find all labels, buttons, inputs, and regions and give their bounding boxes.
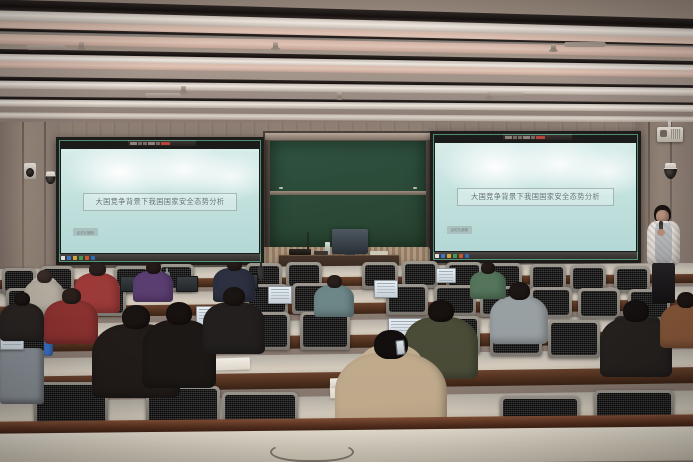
app-green-icon[interactable] xyxy=(79,256,83,260)
person-red-sweater-torso xyxy=(44,300,98,344)
presenter-legs xyxy=(652,263,675,303)
right-slide-title: 大国竞争背景下我国国家安全态势分析 xyxy=(458,192,613,202)
chair xyxy=(548,320,600,358)
folder-icon[interactable] xyxy=(73,256,77,260)
folder-icon[interactable] xyxy=(447,254,451,258)
laptop-screen-text xyxy=(439,271,453,272)
left-projection-screen[interactable]: 大国竞争背景下我国国家安全态势分析 幻灯片放映 xyxy=(56,137,264,265)
left-slide-title-box: 大国竞争背景下我国国家安全态势分析 xyxy=(83,193,237,211)
person-olive-phone-head xyxy=(428,300,454,322)
laptop xyxy=(176,276,196,290)
laptop xyxy=(436,268,454,281)
laptop-screen xyxy=(268,286,292,304)
right-slide-title-box: 大国竞争背景下我国国家安全态势分析 xyxy=(457,188,614,206)
podium-monitor xyxy=(332,229,368,254)
person-dark-right-1-head xyxy=(623,300,649,322)
left-screen-canvas: 大国竞争背景下我国国家安全态势分析 幻灯片放映 xyxy=(61,149,259,253)
laptop-screen xyxy=(374,280,398,298)
app-orange-icon[interactable] xyxy=(85,256,89,260)
sprinkler-head xyxy=(79,42,84,49)
person-dark-far-left xyxy=(0,292,44,344)
app-orange-icon[interactable] xyxy=(459,254,463,258)
person-red-sweater-head xyxy=(62,288,81,304)
app-green-icon[interactable] xyxy=(453,254,457,258)
laptop-screen xyxy=(176,276,198,292)
right-projection-screen[interactable]: 大国竞争背景下我国国家安全态势分析 幻灯片放映 xyxy=(430,131,641,263)
podium-control-panel[interactable] xyxy=(314,251,328,255)
left-slide-status-note: 幻灯片放映 xyxy=(73,228,98,236)
dome-camera-right xyxy=(664,163,677,178)
podium-mic-stand xyxy=(307,232,309,252)
person-red-plaid-head xyxy=(89,262,106,276)
laptop-screen-text xyxy=(377,283,395,284)
person-green-far-right-head xyxy=(481,262,495,274)
person-dark-mid-torso xyxy=(203,302,265,354)
person-grey-jacket-head xyxy=(509,282,530,300)
bottle-dark xyxy=(258,266,264,280)
app-blue-icon[interactable] xyxy=(91,256,95,260)
person-teal-back-torso xyxy=(314,285,354,317)
person-dark-mid xyxy=(203,287,265,358)
person-purple xyxy=(133,261,173,305)
smartphone xyxy=(395,340,406,356)
person-rust-right-torso xyxy=(660,304,693,348)
start-icon[interactable] xyxy=(435,254,439,258)
left-screen-taskbar[interactable] xyxy=(59,254,264,262)
chalkboard-divider xyxy=(270,191,426,195)
person-dark-far-left-torso xyxy=(0,303,44,341)
desk-cable xyxy=(270,442,354,462)
sprinkler-head xyxy=(337,92,342,99)
person-teal-back-head xyxy=(327,275,342,288)
wall-speaker-left xyxy=(24,163,36,179)
laptop-screen xyxy=(436,268,456,283)
projector-mount xyxy=(668,120,671,127)
right-screen-canvas: 大国竞争背景下我国国家安全态势分析 幻灯片放映 xyxy=(435,143,636,251)
sprinkler-head xyxy=(551,44,556,51)
browser-icon[interactable] xyxy=(441,254,445,258)
laptop-screen-text xyxy=(271,289,289,290)
podium-papers xyxy=(370,251,388,255)
ceiling-vent xyxy=(564,42,606,47)
laptop xyxy=(374,280,396,296)
standing-presenter xyxy=(644,205,684,303)
person-green-far-right-torso xyxy=(470,271,506,299)
app-blue-icon[interactable] xyxy=(465,254,469,258)
right-screen-taskbar[interactable] xyxy=(433,252,641,260)
ceiling-vent xyxy=(145,93,181,98)
person-purple-head xyxy=(146,261,161,274)
foreground-desk xyxy=(0,418,693,462)
ceiling-projector-right xyxy=(657,127,683,142)
left-screen-app-bar[interactable] xyxy=(128,140,197,146)
laptop xyxy=(268,286,290,302)
left-slide-title: 大国竞争背景下我国国家安全态势分析 xyxy=(84,197,236,207)
sprinkler-head xyxy=(181,86,186,93)
presenter-hand xyxy=(657,229,665,236)
ceiling-vent xyxy=(26,45,66,50)
sprinkler-head xyxy=(273,42,278,49)
start-icon[interactable] xyxy=(61,256,65,260)
right-slide-status-note: 幻灯片放映 xyxy=(447,226,472,234)
person-dark-far-left-head xyxy=(14,292,30,306)
person-grey-jacket-torso xyxy=(490,296,548,344)
person-red-sweater xyxy=(44,288,98,348)
ceiling xyxy=(0,0,693,128)
lecture-hall-photo: 大国竞争背景下我国国家安全态势分析 幻灯片放映 大国竞争背景下我国国家安全态势分… xyxy=(0,0,693,462)
person-grey-hoodie-far-head xyxy=(37,270,52,283)
person-dark-front-2-head xyxy=(166,302,192,325)
browser-icon[interactable] xyxy=(67,256,71,260)
backpack-grey xyxy=(0,348,44,404)
right-screen-app-bar[interactable] xyxy=(503,134,573,140)
person-green-far-right xyxy=(470,262,506,302)
person-purple-torso xyxy=(133,271,173,302)
person-teal-back xyxy=(314,275,354,320)
person-dark-mid-head xyxy=(223,287,245,306)
chalkboard-top-rail xyxy=(265,133,431,140)
dome-camera-left xyxy=(45,172,55,184)
ceiling-vent xyxy=(490,92,524,97)
